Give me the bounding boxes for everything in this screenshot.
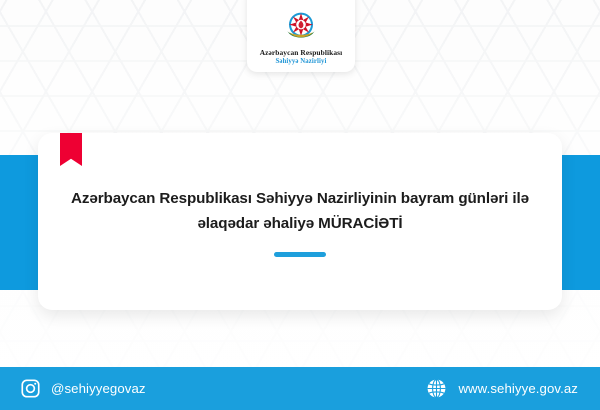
- poster-canvas: Azərbaycan Respublikası Səhiyyə Nazirliy…: [0, 0, 600, 410]
- globe-icon: [426, 378, 447, 399]
- announcement-card: Azərbaycan Respublikası Səhiyyə Nazirliy…: [38, 133, 562, 310]
- ministry-name-line2: Səhiyyə Nazirliyi: [276, 58, 327, 66]
- bookmark-icon: [60, 133, 82, 166]
- azerbaijan-state-emblem-icon: [281, 7, 321, 47]
- instagram-handle: @sehiyyegovaz: [51, 381, 146, 396]
- instagram-icon: [20, 378, 41, 399]
- announcement-headline: Azərbaycan Respublikası Səhiyyə Nazirliy…: [70, 187, 530, 236]
- accent-divider-bar: [274, 252, 326, 257]
- ministry-logo-card: Azərbaycan Respublikası Səhiyyə Nazirliy…: [247, 0, 355, 72]
- footer-bar: @sehiyyegovaz www.sehiyye.gov.az: [0, 367, 600, 410]
- website-link[interactable]: www.sehiyye.gov.az: [426, 378, 578, 399]
- instagram-link[interactable]: @sehiyyegovaz: [20, 378, 146, 399]
- website-url: www.sehiyye.gov.az: [458, 381, 578, 396]
- ministry-name-line1: Azərbaycan Respublikası: [260, 49, 343, 58]
